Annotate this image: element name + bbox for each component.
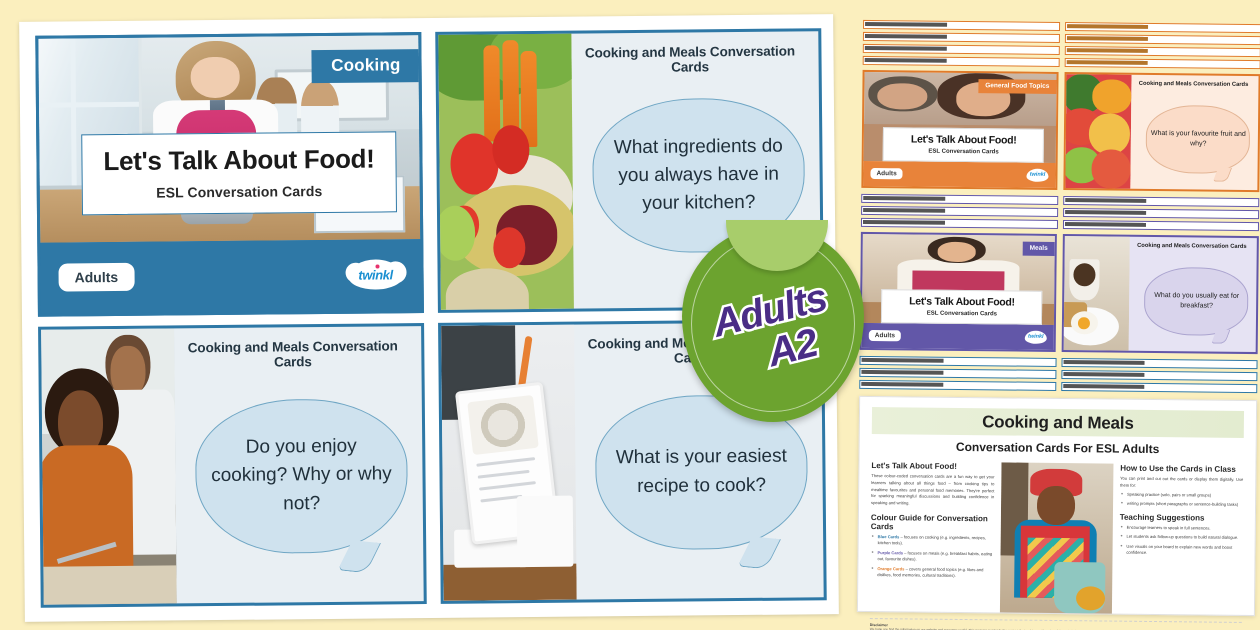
question-text: Do you enjoy cooking? Why or why not?	[196, 433, 407, 519]
list-item: Encourage learners to speak in full sent…	[1120, 524, 1243, 532]
teaching-suggestions-list: Encourage learners to speak in full sent…	[1119, 524, 1243, 557]
title-box: Let's Talk About Food! ESL Conversation …	[881, 289, 1043, 325]
information-document[interactable]: Cooking and Meals Conversation Cards For…	[857, 396, 1257, 616]
card-header: Cooking and Meals Conversation Cards	[1130, 243, 1254, 250]
list-item: Use visuals on your board to explain new…	[1119, 543, 1242, 557]
twinkl-logo: twinkl	[1026, 169, 1048, 182]
smiling-woman-cooking-photo	[1000, 462, 1113, 613]
document-title-band: Cooking and Meals	[872, 407, 1244, 438]
badge-line-2: A2	[764, 322, 821, 373]
card-title: Let's Talk About Food!	[885, 295, 1038, 309]
left-column-paragraph: These colour-coded conversation cards ar…	[871, 473, 995, 508]
title-box: Let's Talk About Food! ESL Conversation …	[81, 132, 397, 216]
twinkl-logo: twinkl	[1025, 331, 1047, 344]
preview-question-card-purple[interactable]: Cooking and Meals Conversation Cards Wha…	[1062, 234, 1259, 354]
usage-list: Speaking practice (solo, pairs or small …	[1120, 491, 1243, 508]
purple-preview-row: Meals Let's Talk About Food! ESL Convers…	[860, 232, 1259, 354]
speech-bubble: What is your favourite fruit and why?	[1146, 105, 1251, 175]
document-left-column: Let's Talk About Food! These colour-code…	[870, 461, 995, 612]
blue-card-stack	[859, 356, 1257, 396]
card-footer: Adults twinkl	[863, 161, 1055, 188]
purple-card-stack	[861, 194, 1259, 234]
card-subtitle: ESL Conversation Cards	[887, 148, 1040, 156]
topic-banner: Cooking	[311, 49, 419, 83]
question-text: What is your easiest recipe to cook?	[596, 443, 807, 501]
topic-banner: General Food Topics	[978, 79, 1056, 94]
badge-text: Adults A2	[661, 207, 885, 441]
list-item: Orange Cards – covers general food topic…	[870, 566, 993, 580]
question-text: What ingredients do you always have in y…	[593, 132, 804, 218]
preview-question-card-orange[interactable]: Cooking and Meals Conversation Cards Wha…	[1063, 72, 1260, 192]
colour-guide-heading: Colour Guide for Conversation Cards	[871, 513, 994, 532]
preview-panel: General Food Topics Let's Talk About Foo…	[857, 20, 1260, 616]
preview-title-card-orange[interactable]: General Food Topics Let's Talk About Foo…	[861, 70, 1058, 190]
card-subtitle: ESL Conversation Cards	[885, 310, 1038, 318]
right-column-paragraph: You can print and cut out the cards or d…	[1120, 476, 1243, 491]
adults-level-badge: Adults A2	[682, 226, 864, 422]
speech-bubble: Do you enjoy cooking? Why or why not?	[195, 398, 409, 554]
title-card-footer: Adults twinkl	[40, 239, 421, 314]
card-title: Let's Talk About Food!	[92, 145, 386, 176]
teaching-suggestions-heading: Teaching Suggestions	[1120, 512, 1243, 522]
card-header: Cooking and Meals Conversation Cards	[571, 43, 808, 75]
list-item: Purple Cards – focuses on meals (e.g. br…	[870, 550, 993, 564]
divider	[870, 618, 1242, 623]
topic-banner: Meals	[1023, 242, 1055, 256]
tablet-recipe-photo	[441, 325, 577, 601]
level-pill: Adults	[870, 168, 902, 179]
level-pill: Adults	[869, 330, 901, 341]
list-item: Let students ask follow-up questions to …	[1119, 534, 1242, 542]
preview-card-body: Cooking and Meals Conversation Cards Wha…	[1129, 237, 1257, 352]
right-column-heading: How to Use the Cards in Class	[1120, 464, 1243, 474]
document-subheading: Conversation Cards For ESL Adults	[872, 439, 1244, 457]
breakfast-coffee-photo	[1064, 236, 1130, 351]
fruit-platter-photo	[1065, 74, 1131, 189]
title-card[interactable]: Cooking Let's Talk About Food! ESL Conve…	[35, 32, 424, 317]
couple-cooking-photo	[41, 328, 177, 604]
card-header: Cooking and Meals Conversation Cards	[1132, 81, 1256, 88]
vegetables-photo	[438, 34, 574, 310]
card-header: Cooking and Meals Conversation Cards	[174, 338, 411, 370]
list-item: writing prompts (short paragraphs or sen…	[1120, 501, 1243, 509]
orange-card-stack	[863, 20, 1260, 72]
list-item: Speaking practice (solo, pairs or small …	[1120, 491, 1243, 499]
twinkl-logo: twinkl	[348, 260, 402, 291]
orange-preview-row: General Food Topics Let's Talk About Foo…	[861, 70, 1260, 192]
preview-card-body: Cooking and Meals Conversation Cards Wha…	[1131, 75, 1259, 190]
colour-guide-list: Blue Cards – focuses on cooking (e.g. in…	[870, 534, 994, 581]
question-card-body: Cooking and Meals Conversation Cards Do …	[174, 326, 424, 603]
document-right-column: How to Use the Cards in Class You can pr…	[1119, 464, 1244, 615]
card-footer: Adults twinkl	[862, 323, 1054, 350]
left-column-heading: Let's Talk About Food!	[871, 461, 994, 471]
preview-title-card-purple[interactable]: Meals Let's Talk About Food! ESL Convers…	[860, 232, 1057, 352]
document-heading: Cooking and Meals	[872, 411, 1244, 435]
card-title: Let's Talk About Food!	[887, 133, 1040, 147]
list-item: Blue Cards – focuses on cooking (e.g. in…	[871, 534, 994, 548]
question-card[interactable]: Cooking and Meals Conversation Cards Do …	[38, 323, 427, 608]
document-columns: Let's Talk About Food! These colour-code…	[870, 461, 1244, 615]
document-centre-column	[1000, 462, 1113, 613]
level-pill: Adults	[58, 263, 134, 292]
title-box: Let's Talk About Food! ESL Conversation …	[883, 127, 1045, 163]
speech-bubble: What do you usually eat for breakfast?	[1144, 267, 1249, 337]
card-subtitle: ESL Conversation Cards	[93, 182, 387, 201]
